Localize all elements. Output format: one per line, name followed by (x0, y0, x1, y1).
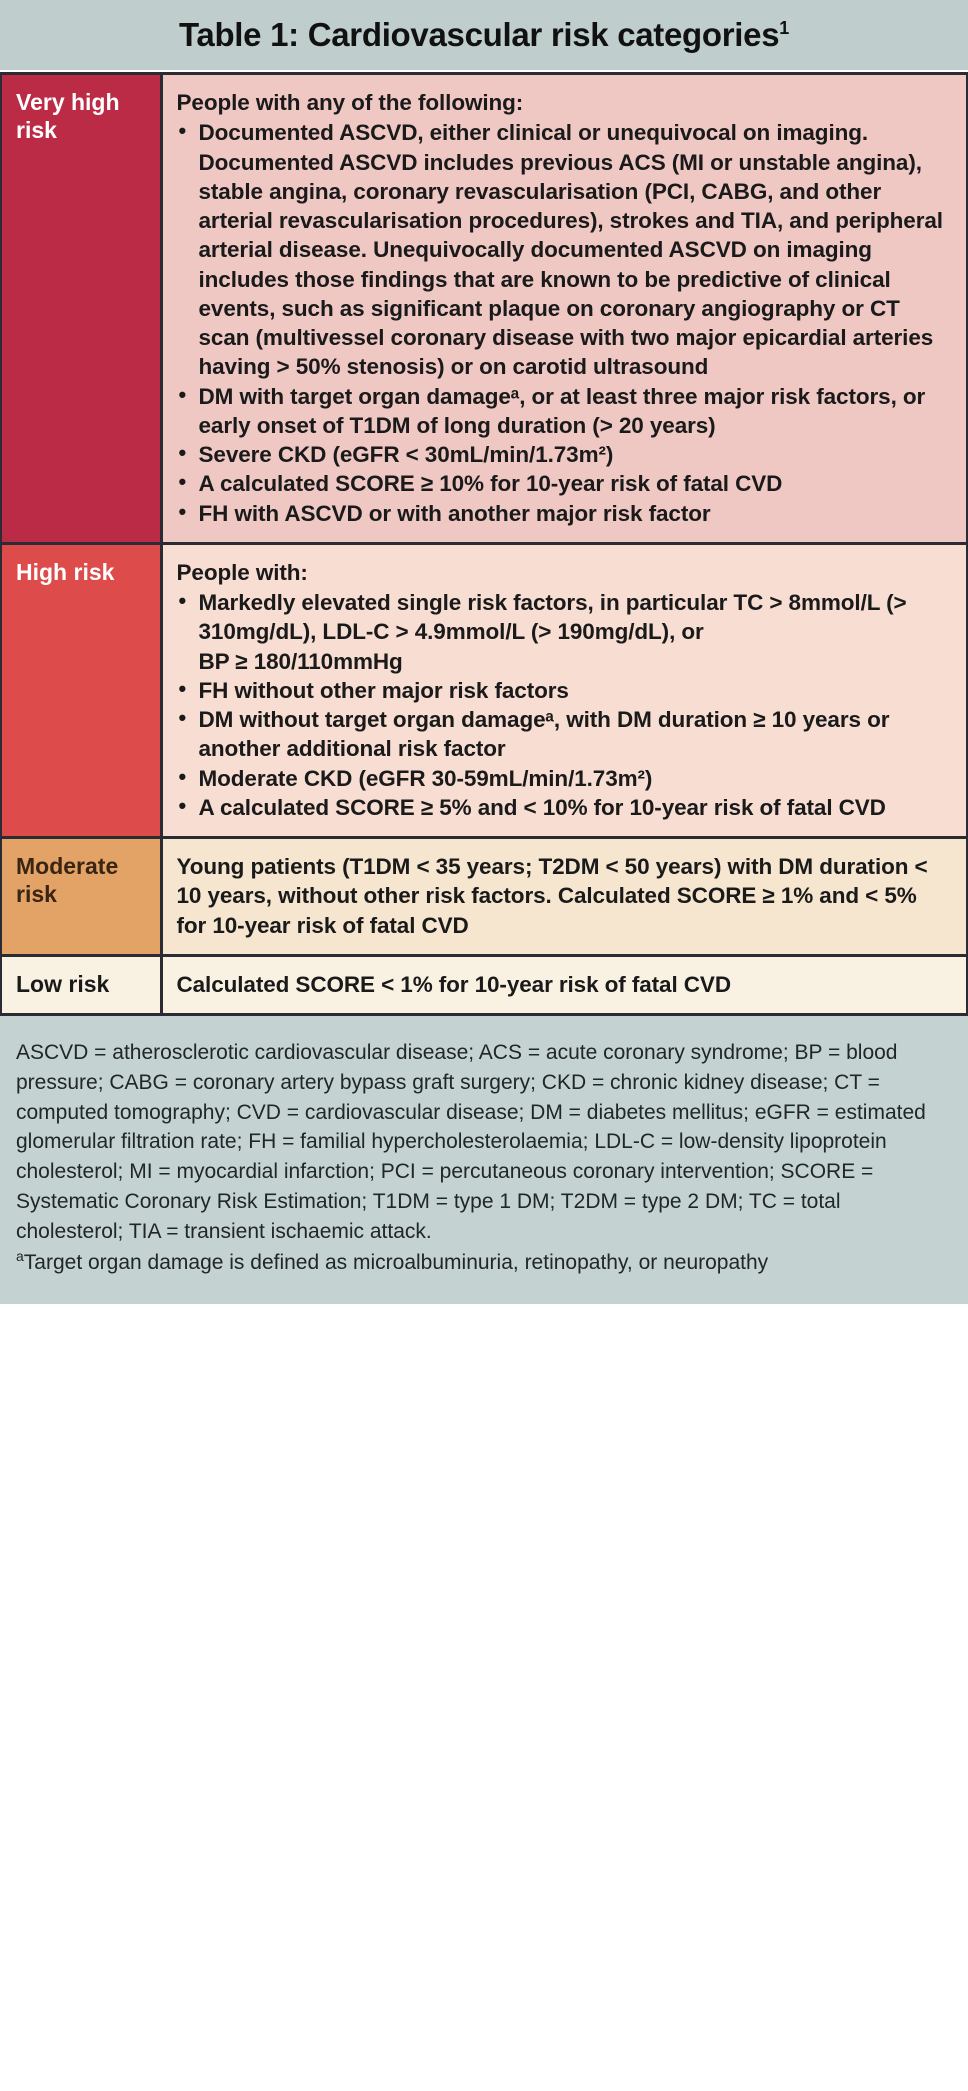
list-item: DM with target organ damageᵃ, or at leas… (177, 382, 953, 441)
list-item: DM without target organ damageᵃ, with DM… (177, 705, 953, 764)
risk-category-label-very-high: Very high risk (1, 74, 161, 544)
footnote-note-text: Target organ damage is defined as microa… (24, 1251, 768, 1274)
cardiovascular-risk-table: Very high risk People with any of the fo… (0, 72, 968, 1016)
bullet-text: Moderate CKD (eGFR 30-59mL/min/1.73m²) (199, 766, 653, 791)
bullet-text: Severe CKD (eGFR < 30mL/min/1.73m²) (199, 442, 614, 467)
risk-category-label-moderate: Moderate risk (1, 838, 161, 956)
list-item: FH without other major risk factors (177, 676, 953, 705)
bullet-text: DM with target organ damageᵃ, or at leas… (199, 384, 926, 438)
risk-category-label-high: High risk (1, 543, 161, 837)
criteria-lead-text: People with: (177, 558, 953, 587)
list-item: Severe CKD (eGFR < 30mL/min/1.73m²) (177, 440, 953, 469)
bullet-text: FH without other major risk factors (199, 678, 569, 703)
bullet-text: A calculated SCORE ≥ 10% for 10-year ris… (199, 471, 783, 496)
risk-criteria-very-high: People with any of the following: Docume… (161, 74, 967, 544)
risk-category-label-low: Low risk (1, 955, 161, 1014)
table-row-moderate-risk: Moderate risk Young patients (T1DM < 35 … (1, 838, 967, 956)
page-title: Table 1: Cardiovascular risk categories1 (179, 16, 789, 54)
risk-criteria-high: People with: Markedly elevated single ri… (161, 543, 967, 837)
title-superscript-reference: 1 (779, 18, 789, 38)
table-row-high-risk: High risk People with: Markedly elevated… (1, 543, 967, 837)
criteria-bullet-list: Markedly elevated single risk factors, i… (177, 588, 953, 822)
bullet-text: DM without target organ damageᵃ, with DM… (199, 707, 890, 761)
risk-criteria-low: Calculated SCORE < 1% for 10-year risk o… (161, 955, 967, 1014)
list-item: A calculated SCORE ≥ 5% and < 10% for 10… (177, 793, 953, 822)
list-item: A calculated SCORE ≥ 10% for 10-year ris… (177, 469, 953, 498)
list-item: Moderate CKD (eGFR 30-59mL/min/1.73m²) (177, 764, 953, 793)
table-title-text: Table 1: Cardiovascular risk categories (179, 16, 779, 53)
bullet-text: A calculated SCORE ≥ 5% and < 10% for 10… (199, 795, 886, 820)
bullet-text: FH with ASCVD or with another major risk… (199, 501, 711, 526)
bullet-subline-bp: BP ≥ 180/110mmHg (199, 647, 953, 676)
footnote-note-a: aTarget organ damage is defined as micro… (16, 1247, 952, 1278)
table-footnote: ASCVD = atherosclerotic cardiovascular d… (0, 1016, 968, 1304)
table-title-bar: Table 1: Cardiovascular risk categories1 (0, 0, 968, 72)
list-item: FH with ASCVD or with another major risk… (177, 499, 953, 528)
bullet-text: Documented ASCVD, either clinical or une… (199, 120, 943, 379)
list-item: Documented ASCVD, either clinical or une… (177, 118, 953, 381)
footnote-abbreviations: ASCVD = atherosclerotic cardiovascular d… (16, 1038, 952, 1247)
table-row-low-risk: Low risk Calculated SCORE < 1% for 10-ye… (1, 955, 967, 1014)
criteria-lead-text: People with any of the following: (177, 88, 953, 117)
risk-criteria-moderate: Young patients (T1DM < 35 years; T2DM < … (161, 838, 967, 956)
table-row-very-high-risk: Very high risk People with any of the fo… (1, 74, 967, 544)
bullet-text: Markedly elevated single risk factors, i… (199, 590, 907, 644)
list-item: Markedly elevated single risk factors, i… (177, 588, 953, 676)
table-figure: Table 1: Cardiovascular risk categories1… (0, 0, 968, 2091)
criteria-bullet-list: Documented ASCVD, either clinical or une… (177, 118, 953, 528)
footnote-marker: a (16, 1248, 24, 1264)
